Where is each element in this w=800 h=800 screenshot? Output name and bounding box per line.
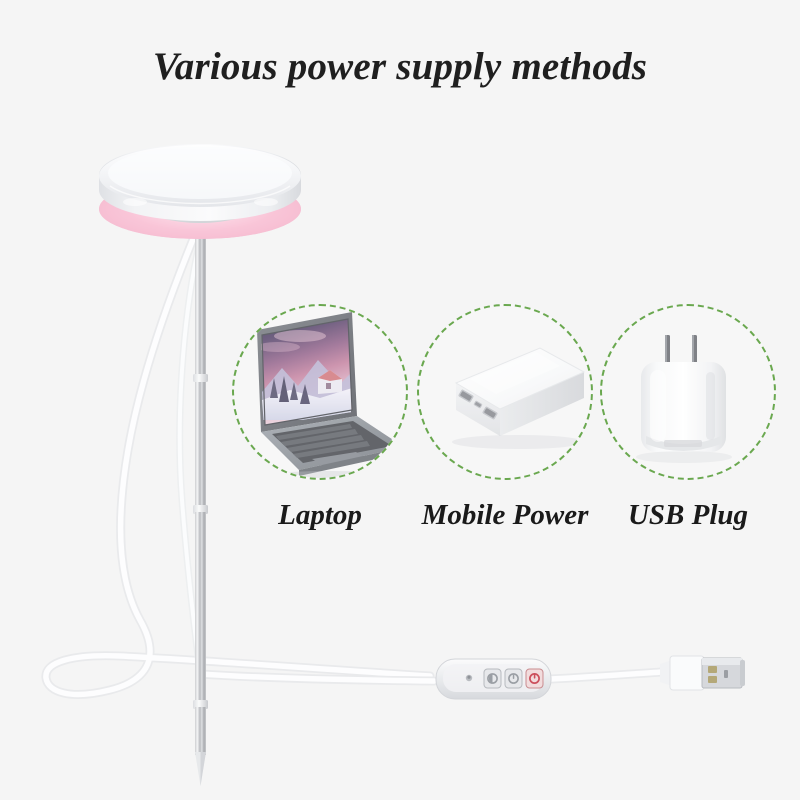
option-label-usb-plug: USB Plug [570, 499, 800, 532]
dashed-circle-usb-plug [600, 304, 776, 480]
infographic-canvas: Various power supply methods Laptop Mobi… [0, 0, 800, 800]
page-title: Various power supply methods [0, 44, 800, 89]
option-mobile-power[interactable]: Mobile Power [417, 304, 593, 554]
lamp-pole [193, 228, 208, 786]
option-usb-plug[interactable]: USB Plug [600, 304, 776, 554]
usb-a-connector [660, 656, 745, 690]
lamp-head [99, 144, 301, 239]
power-button-icon [526, 669, 543, 688]
mode-button-icon [484, 669, 501, 688]
inline-controller[interactable] [436, 659, 551, 699]
dashed-circle-laptop [232, 304, 408, 480]
dashed-circle-mobile-power [417, 304, 593, 480]
timer-button-icon [505, 669, 522, 688]
